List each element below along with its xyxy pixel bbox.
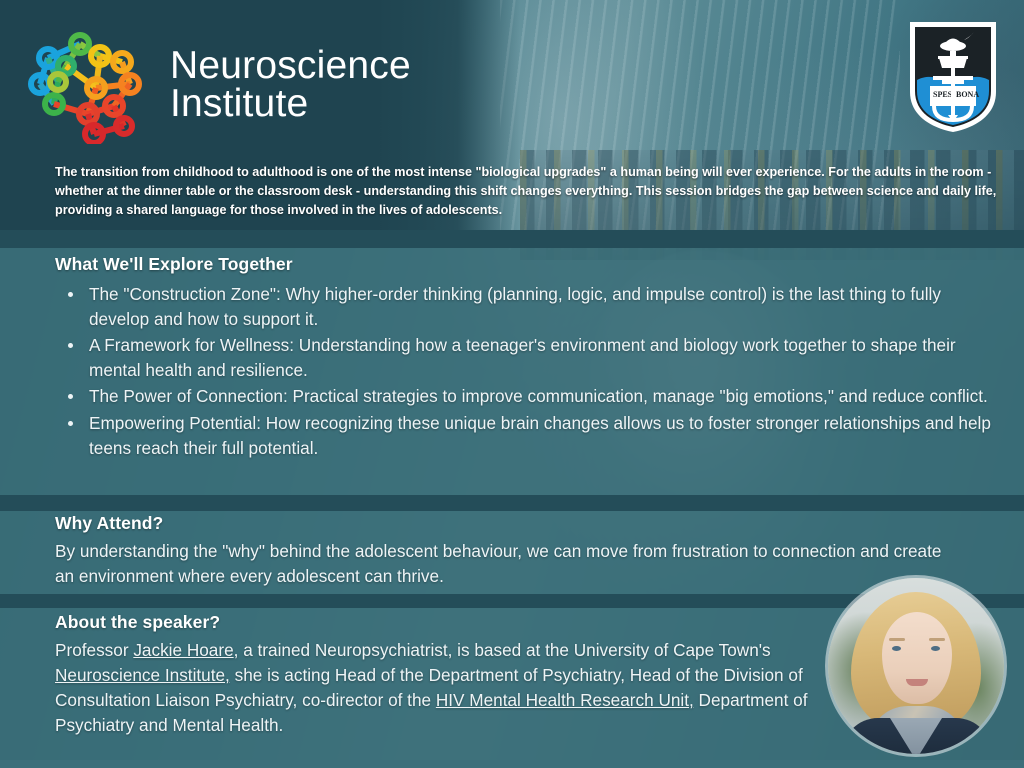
bullet-dot-icon [68,421,73,426]
speaker-link-jackie-hoare[interactable]: Jackie Hoare [133,640,233,660]
avatar-eye-left [892,646,901,651]
explore-bullet-text: Empowering Potential: How recognizing th… [89,411,1000,461]
speaker-title: About the speaker? [55,612,830,633]
footer-strip [0,760,1024,768]
list-item: A Framework for Wellness: Understanding … [89,333,1000,383]
list-item: The "Construction Zone": Why higher-orde… [89,282,1000,332]
divider-band-middle [0,495,1024,511]
speaker-bio-text-2: , a trained Neuropsychiatrist, is based … [234,640,771,660]
explore-bullet-list: The "Construction Zone": Why higher-orde… [55,282,1000,461]
speaker-link-hiv-research-unit[interactable]: HIV Mental Health Research Unit, [436,690,694,710]
why-attend-section: Why Attend? By understanding the "why" b… [55,513,955,589]
explore-bullet-text: The Power of Connection: Practical strat… [89,384,1000,409]
speaker-section: About the speaker? Professor Jackie Hoar… [55,612,830,738]
speaker-bio: Professor Jackie Hoare, a trained Neurop… [55,638,830,738]
why-attend-body: By understanding the "why" behind the ad… [55,539,955,589]
bullet-dot-icon [68,394,73,399]
logo-line-1: Neuroscience [170,47,411,85]
logo-line-2: Institute [170,85,411,123]
explore-bullet-text: The "Construction Zone": Why higher-orde… [89,282,1000,332]
uct-shield-crest-icon: SPES BONA [906,18,1000,136]
webinar-poster: Neuroscience Institute SPES [0,0,1024,768]
bullet-dot-icon [68,292,73,297]
divider-band-top [0,230,1024,248]
explore-bullet-text: A Framework for Wellness: Understanding … [89,333,1000,383]
avatar-brow-right [929,638,945,641]
list-item: The Power of Connection: Practical strat… [89,384,1000,409]
speaker-bio-text-1: Professor [55,640,133,660]
poster-header: Neuroscience Institute SPES [0,0,1024,248]
crest-motto-right: BONA [956,90,979,99]
speaker-portrait-avatar [828,578,1004,754]
logo-wordmark: Neuroscience Institute [170,47,411,123]
list-item: Empowering Potential: How recognizing th… [89,411,1000,461]
bullet-dot-icon [68,343,73,348]
explore-title: What We'll Explore Together [55,254,1000,275]
intro-paragraph: The transition from childhood to adultho… [55,163,1000,220]
speaker-link-neuroscience-institute[interactable]: Neuroscience Institute, [55,665,230,685]
avatar-face [882,612,952,704]
avatar-eye-right [931,646,940,651]
explore-section: What We'll Explore Together The "Constru… [55,254,1000,462]
brain-network-logo-icon [18,22,154,144]
avatar-brow-left [889,638,905,641]
avatar-mouth [906,679,928,686]
neuroscience-institute-logo: Neuroscience Institute [18,22,411,144]
crest-motto-left: SPES [933,90,953,99]
why-attend-title: Why Attend? [55,513,955,534]
